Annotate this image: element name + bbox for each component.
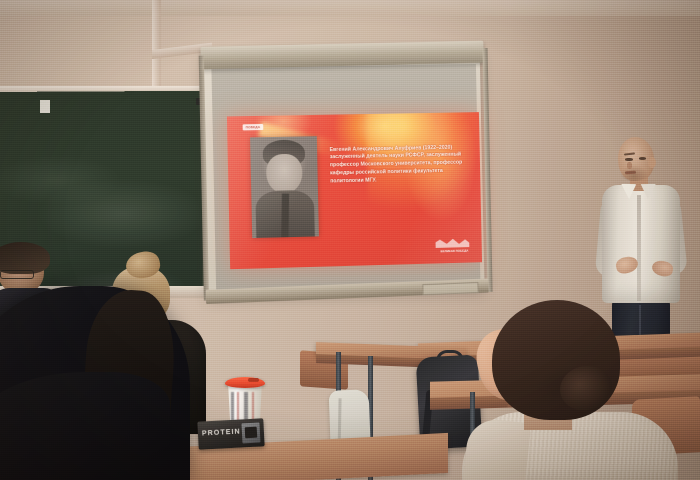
student-foreground-right — [468, 300, 688, 480]
slide-body-text: Евгений Александрович Ануфриев (1922–202… — [329, 144, 465, 187]
screen-fabric: ПОБЕДА Евгений Александрович Ануфриев (1… — [211, 64, 480, 290]
chalkboard-paper-note — [40, 100, 50, 113]
portrait-face — [266, 154, 303, 195]
presenter-shirt-placket — [637, 195, 641, 301]
student-foreground-left-shoulder — [0, 372, 170, 480]
projection-screen: ПОБЕДА Евгений Александрович Ануфриев (1… — [201, 42, 491, 298]
slide-logo-mark — [435, 238, 469, 248]
presenter-eye-left — [625, 158, 633, 161]
student-foreground-right-arm — [463, 417, 532, 480]
presenter-mouth — [625, 171, 636, 175]
presenter-ear — [648, 157, 656, 168]
protein-bar-badge — [241, 422, 260, 443]
protein-bar-package: PROTEIN — [197, 418, 264, 449]
slide-portrait-photo — [250, 136, 318, 238]
projected-slide: ПОБЕДА Евгений Александрович Ануфриев (1… — [227, 112, 482, 269]
presenter-shirt — [602, 185, 680, 303]
screen-frame: ПОБЕДА Евгений Александрович Ануфриев (1… — [203, 50, 485, 296]
slide-logo-bottom-right-text: ВЕЛИКАЯ ПОБЕДА — [440, 248, 468, 253]
slide-logo-top-left-text: ПОБЕДА — [246, 125, 261, 129]
screen-bottom-plate — [422, 282, 478, 295]
protein-bar-label: PROTEIN — [202, 428, 241, 437]
portrait-uniform-collar — [256, 190, 315, 238]
student-back-left-glasses — [0, 270, 34, 279]
presenter-eye-right — [639, 157, 646, 160]
lecture-hall-photograph: ПОБЕДА Евгений Александрович Ануфриев (1… — [0, 0, 700, 480]
coffee-cup-lid — [225, 377, 265, 388]
presenter-nose — [627, 162, 632, 169]
slide-logo-top-left: ПОБЕДА — [242, 123, 263, 129]
slide-logo-bottom-right: ВЕЛИКАЯ ПОБЕДА — [429, 230, 470, 253]
coffee-cup-lid-tab — [248, 378, 259, 382]
